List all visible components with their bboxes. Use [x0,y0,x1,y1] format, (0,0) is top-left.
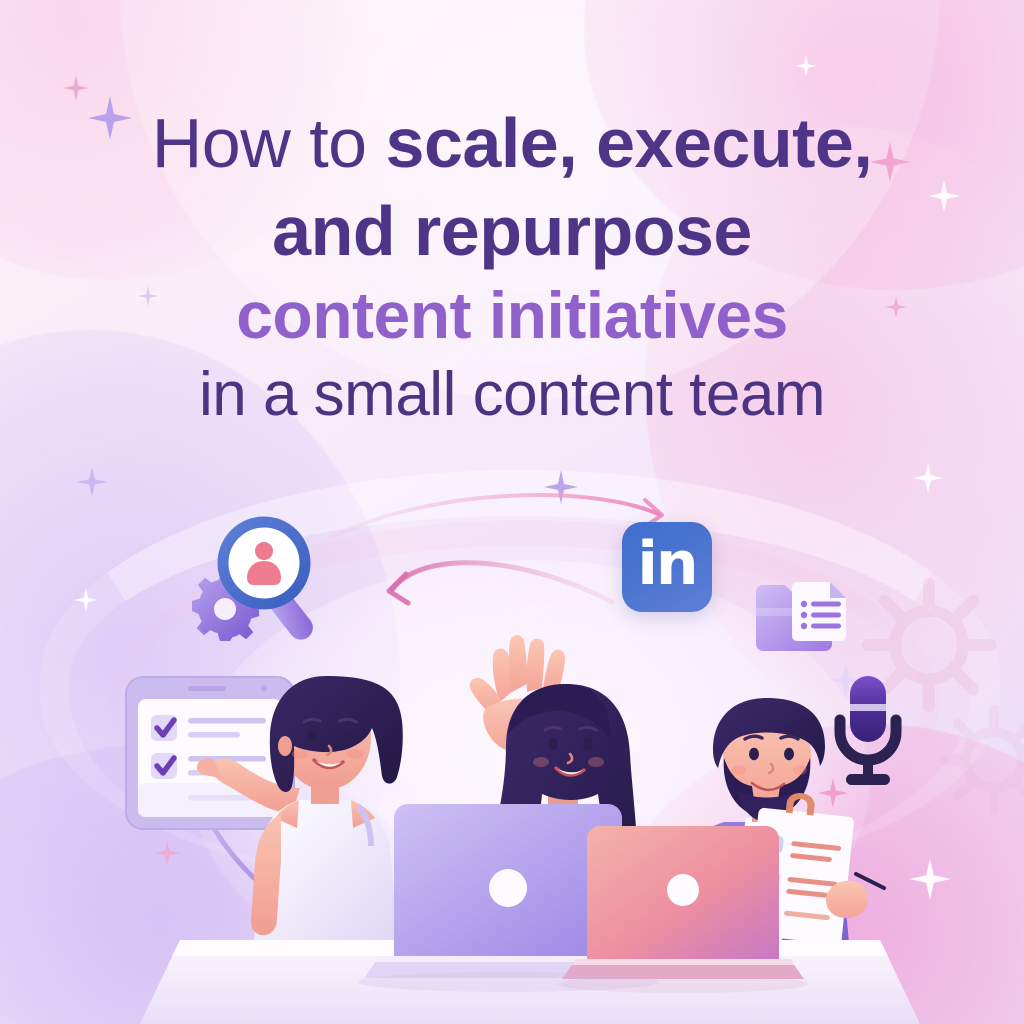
headline-line-3-accent: content initiatives [0,282,1024,348]
headline-line-2: and repurpose [0,196,1024,266]
illustration: in [0,470,1024,1024]
people-group [0,470,1024,1024]
social-graphic-canvas: How to scale, execute, and repurpose con… [0,0,1024,1024]
headline-line-4: in a small content team [0,364,1024,426]
headline-line-1-bold: scale, execute, [386,104,873,182]
headline-line-1: How to scale, execute, [0,108,1024,178]
person-left [197,676,403,960]
page-title: How to scale, execute, and repurpose con… [0,108,1024,426]
laptop-pink [562,826,804,979]
headline-line-1-plain: How to [152,104,386,182]
